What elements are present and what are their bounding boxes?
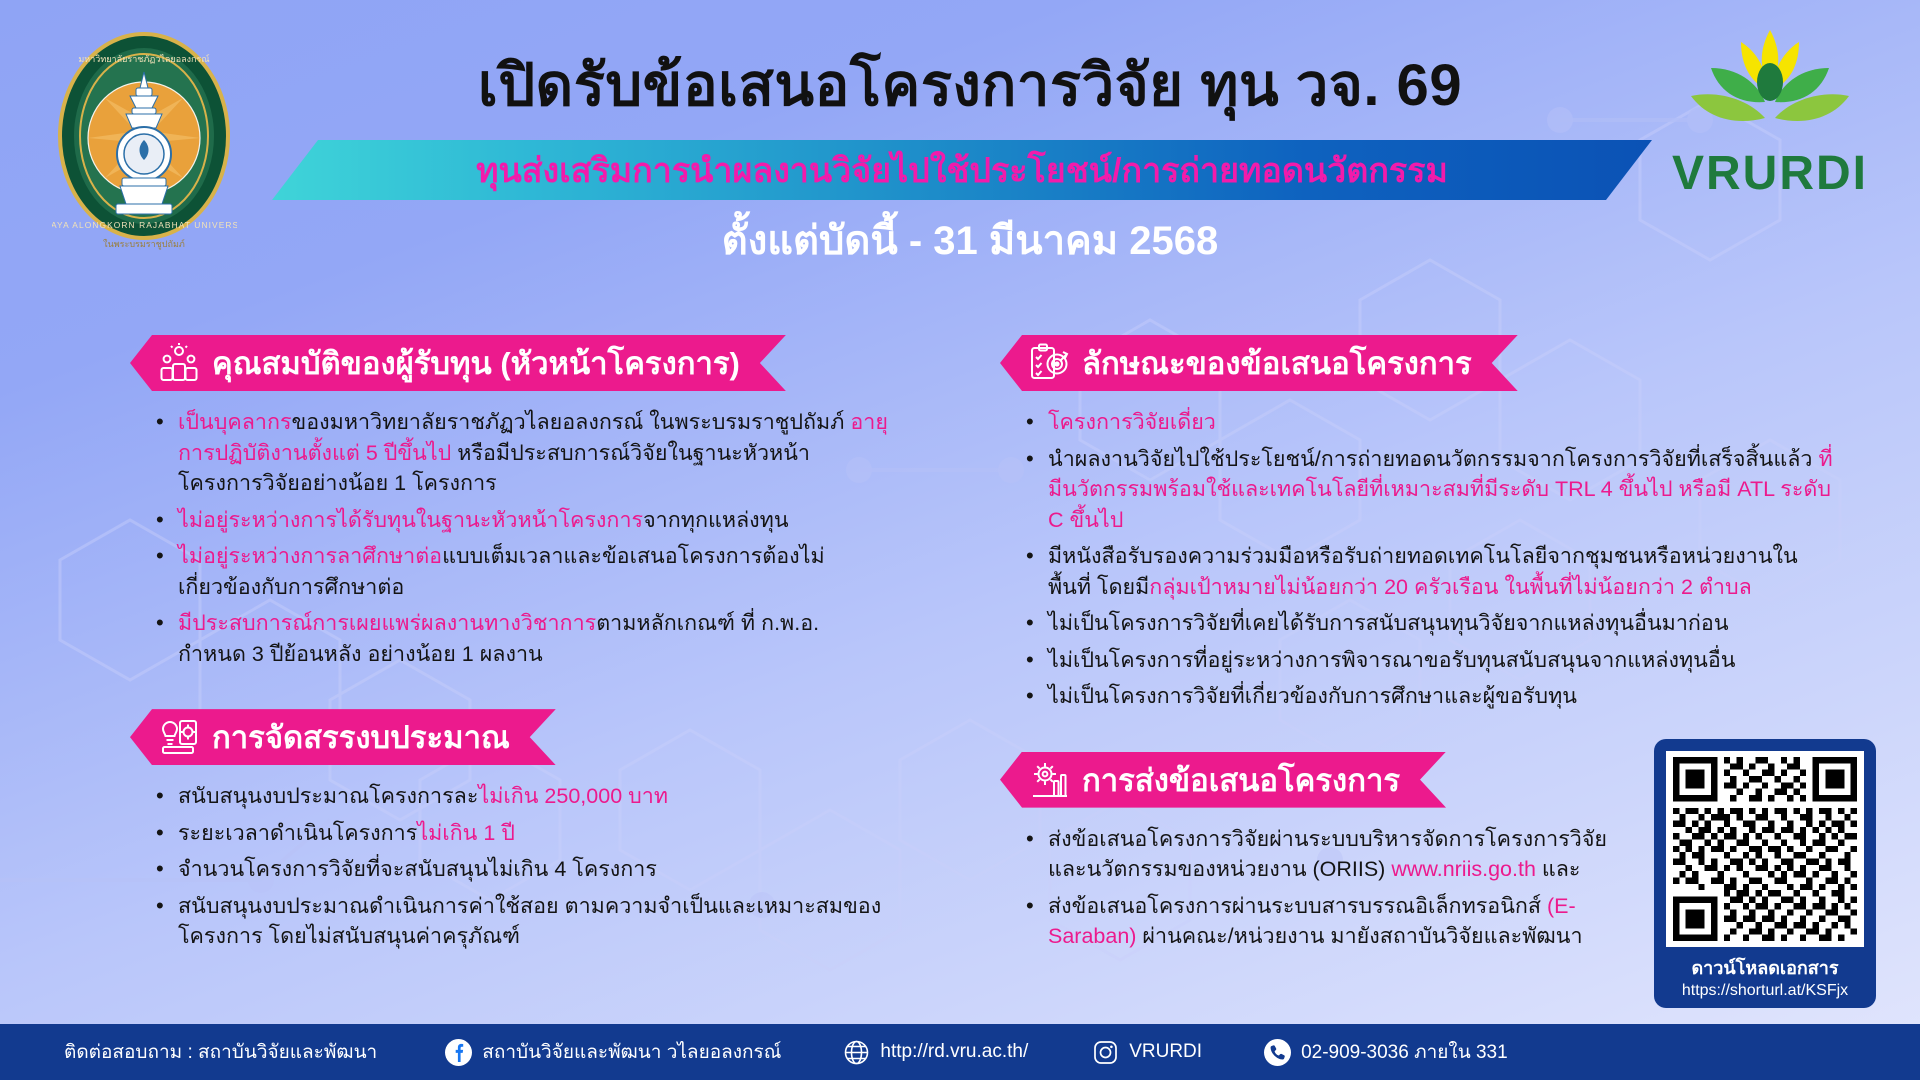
submission-list: ส่งข้อเสนอโครงการวิจัยผ่านระบบบริหารจัดก… (1022, 824, 1642, 952)
footer-instagram-text: VRURDI (1129, 1041, 1202, 1063)
list-item: สนับสนุนงบประมาณโครงการละไม่เกิน 250,000… (152, 781, 890, 812)
lightbulb-book-icon (158, 716, 200, 758)
list-item: ส่งข้อเสนอโครงการผ่านระบบสารบรรณอิเล็กทร… (1022, 891, 1642, 952)
highlighted-text: เป็นบุคลากร (178, 410, 292, 434)
list-item: นำผลงานวิจัยไปใช้ประโยชน์/การถ่ายทอดนวัต… (1022, 444, 1840, 536)
footer-contact: ติดต่อสอบถาม : สถาบันวิจัยและพัฒนา (64, 1037, 377, 1067)
instagram-icon (1092, 1039, 1119, 1066)
svg-text:มหาวิทยาลัยราชภัฏวไลยอลงกรณ์: มหาวิทยาลัยราชภัฏวไลยอลงกรณ์ (78, 53, 209, 64)
body-text: ผ่านคณะ/หน่วยงาน มายังสถาบันวิจัยและพัฒน… (1136, 924, 1582, 948)
footer-contact-label: ติดต่อสอบถาม : สถาบันวิจัยและพัฒนา (64, 1037, 377, 1067)
section-title-proposal: ลักษณะของข้อเสนอโครงการ (1082, 338, 1472, 388)
body-text: จากทุกแหล่งทุน (643, 508, 788, 532)
highlighted-text: มีประสบการณ์การเผยแพร่ผลงานทางวิชาการ (178, 611, 596, 635)
list-item: ไม่อยู่ระหว่างการได้รับทุนในฐานะหัวหน้าโ… (152, 505, 890, 536)
section-header-budget: การจัดสรรงบประมาณ (130, 709, 556, 765)
qualifications-list: เป็นบุคลากรของมหาวิทยาลัยราชภัฏวไลยอลงกร… (152, 407, 890, 669)
qr-caption: ดาวน์โหลดเอกสาร (1666, 953, 1864, 982)
body-text: ส่งข้อเสนอโครงการผ่านระบบสารบรรณอิเล็กทร… (1048, 894, 1547, 918)
highlighted-text: ไม่อยู่ระหว่างการได้รับทุนในฐานะหัวหน้าโ… (178, 508, 643, 532)
body-text: ระยะเวลาดำเนินโครงการ (178, 821, 417, 845)
section-header-submission: การส่งข้อเสนอโครงการ (1000, 752, 1446, 808)
section-title-submission: การส่งข้อเสนอโครงการ (1082, 755, 1400, 805)
budget-list: สนับสนุนงบประมาณโครงการละไม่เกิน 250,000… (152, 781, 890, 952)
footer-facebook[interactable]: สถาบันวิจัยและพัฒนา วไลยอลงกรณ์ (445, 1037, 781, 1067)
list-item: เป็นบุคลากรของมหาวิทยาลัยราชภัฏวไลยอลงกร… (152, 407, 890, 499)
list-item: มีประสบการณ์การเผยแพร่ผลงานทางวิชาการตาม… (152, 608, 890, 669)
body-text: ไม่เป็นโครงการวิจัยที่เคยได้รับการสนับสน… (1048, 611, 1729, 635)
highlighted-text: โครงการวิจัยเดี่ยว (1048, 410, 1216, 434)
footer-facebook-text: สถาบันวิจัยและพัฒนา วไลยอลงกรณ์ (482, 1037, 781, 1067)
subtitle-text: ทุนส่งเสริมการนำผลงานวิจัยไปใช้ประโยชน์/… (476, 143, 1448, 197)
highlighted-text: ไม่อยู่ระหว่างการลาศึกษาต่อ (178, 544, 442, 568)
list-item: สนับสนุนงบประมาณดำเนินการค่าใช้สอย ตามคว… (152, 891, 890, 952)
section-header-qualifications: คุณสมบัติของผู้รับทุน (หัวหน้าโครงการ) (130, 335, 786, 391)
footer-website[interactable]: http://rd.vru.ac.th/ (843, 1039, 1028, 1066)
qr-url[interactable]: https://shorturl.at/KSFjx (1666, 982, 1864, 1000)
poster-header: มหาวิทยาลัยราชภัฏวไลยอลงกรณ์ VALAYA ALON… (0, 0, 1920, 300)
svg-text:VALAYA ALONGKORN RAJABHAT UNIV: VALAYA ALONGKORN RAJABHAT UNIVERSITY (52, 220, 237, 230)
page-title: เปิดรับข้อเสนอโครงการวิจัย ทุน วจ. 69 (300, 54, 1640, 118)
list-item: ไม่เป็นโครงการที่อยู่ระหว่างการพิจารณาขอ… (1022, 645, 1840, 676)
list-item: โครงการวิจัยเดี่ยว (1022, 407, 1840, 438)
highlighted-text: ไม่เกิน 1 ปี (417, 821, 515, 845)
people-idea-icon (158, 342, 200, 384)
body-text: สนับสนุนงบประมาณโครงการละ (178, 784, 478, 808)
section-title-qualifications: คุณสมบัติของผู้รับทุน (หัวหน้าโครงการ) (212, 338, 740, 388)
highlighted-text: www.nriis.go.th (1391, 857, 1536, 881)
gear-chart-icon (1028, 759, 1070, 801)
body-text: นำผลงานวิจัยไปใช้ประโยชน์/การถ่ายทอดนวัต… (1048, 447, 1818, 471)
list-item: จำนวนโครงการวิจัยที่จะสนับสนุนไม่เกิน 4 … (152, 854, 890, 885)
left-column: คุณสมบัติของผู้รับทุน (หัวหน้าโครงการ) เ… (130, 335, 890, 958)
application-period: ตั้งแต่บัดนี้ - 31 มีนาคม 2568 (300, 208, 1640, 272)
globe-icon (843, 1039, 870, 1066)
list-item: ไม่เป็นโครงการวิจัยที่เกี่ยวข้องกับการศึ… (1022, 681, 1840, 712)
highlighted-text: ไม่เกิน 250,000 บาท (478, 784, 668, 808)
body-text: สนับสนุนงบประมาณดำเนินการค่าใช้สอย ตามคว… (178, 894, 881, 949)
body-text: ไม่เป็นโครงการวิจัยที่เกี่ยวข้องกับการศึ… (1048, 684, 1577, 708)
list-item: ส่งข้อเสนอโครงการวิจัยผ่านระบบบริหารจัดก… (1022, 824, 1642, 885)
footer-instagram[interactable]: VRURDI (1092, 1039, 1202, 1066)
clipboard-target-icon (1028, 342, 1070, 384)
list-item: ระยะเวลาดำเนินโครงการไม่เกิน 1 ปี (152, 818, 890, 849)
qr-code-image (1666, 751, 1864, 947)
vrurdi-logo: VRURDI (1650, 24, 1890, 224)
subtitle-banner: ทุนส่งเสริมการนำผลงานวิจัยไปใช้ประโยชน์/… (272, 140, 1652, 200)
footer-website-text: http://rd.vru.ac.th/ (880, 1041, 1028, 1063)
body-text: และ (1536, 857, 1581, 881)
vrurdi-wordmark: VRURDI (1650, 146, 1890, 201)
body-text: ไม่เป็นโครงการที่อยู่ระหว่างการพิจารณาขอ… (1048, 648, 1735, 672)
section-title-budget: การจัดสรรงบประมาณ (212, 712, 510, 762)
svg-text:ในพระบรมราชูปถัมภ์: ในพระบรมราชูปถัมภ์ (103, 238, 185, 250)
poster-footer: ติดต่อสอบถาม : สถาบันวิจัยและพัฒนา สถาบั… (0, 1024, 1920, 1080)
list-item: มีหนังสือรับรองความร่วมมือหรือรับถ่ายทอด… (1022, 541, 1840, 602)
qr-download-card[interactable]: ดาวน์โหลดเอกสาร https://shorturl.at/KSFj… (1654, 739, 1876, 1008)
proposal-list: โครงการวิจัยเดี่ยวนำผลงานวิจัยไปใช้ประโย… (1022, 407, 1840, 712)
body-text: จำนวนโครงการวิจัยที่จะสนับสนุนไม่เกิน 4 … (178, 857, 657, 881)
highlighted-text: กลุ่มเป้าหมายไม่น้อยกว่า 20 ครัวเรือน ใน… (1149, 575, 1752, 599)
facebook-icon (445, 1039, 472, 1066)
phone-icon (1264, 1039, 1291, 1066)
footer-phone-text: 02-909-3036 ภายใน 331 (1301, 1037, 1508, 1067)
list-item: ไม่เป็นโครงการวิจัยที่เคยได้รับการสนับสน… (1022, 608, 1840, 639)
list-item: ไม่อยู่ระหว่างการลาศึกษาต่อแบบเต็มเวลาแล… (152, 541, 890, 602)
poster-root: มหาวิทยาลัยราชภัฏวไลยอลงกรณ์ VALAYA ALON… (0, 0, 1920, 1080)
footer-phone[interactable]: 02-909-3036 ภายใน 331 (1264, 1037, 1508, 1067)
body-text: ของมหาวิทยาลัยราชภัฏวไลยอลงกรณ์ ในพระบรม… (292, 410, 851, 434)
university-seal-logo: มหาวิทยาลัยราชภัฏวไลยอลงกรณ์ VALAYA ALON… (52, 28, 237, 253)
section-header-proposal: ลักษณะของข้อเสนอโครงการ (1000, 335, 1518, 391)
